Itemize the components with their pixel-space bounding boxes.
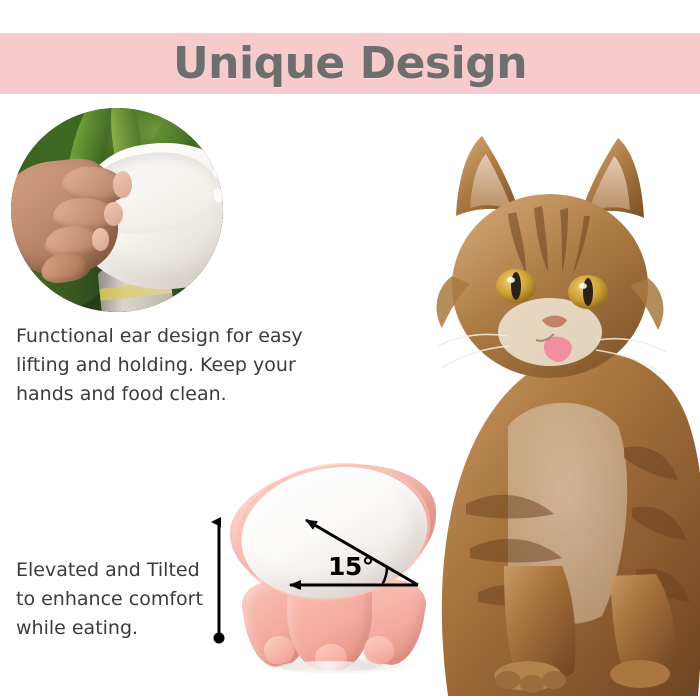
feature-photo-ear-design — [11, 108, 223, 312]
product-feature-page: Unique Design — [0, 0, 700, 700]
cat-photo — [412, 96, 700, 696]
feature-caption-elevated-tilted: Elevated and Tilted to enhance comfort w… — [16, 556, 221, 643]
cat-illustration — [412, 96, 700, 696]
angle-label: 15° — [328, 552, 374, 581]
page-title: Unique Design — [0, 33, 700, 94]
bowl-base-ring — [279, 661, 377, 672]
feature-caption-ear-design: Functional ear design for easy lifting a… — [16, 322, 306, 409]
